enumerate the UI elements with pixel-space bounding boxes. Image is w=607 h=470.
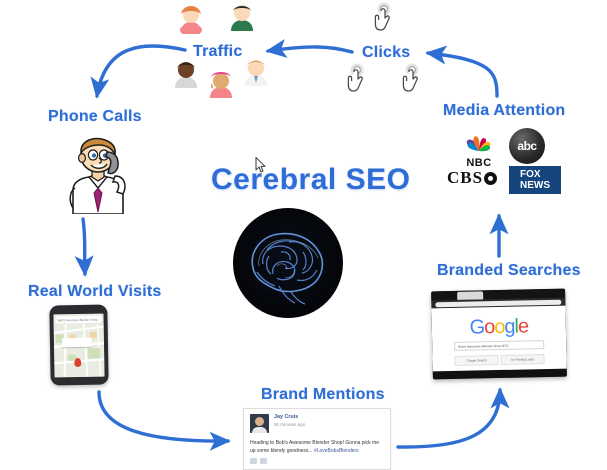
cbs-logo-icon: CBS	[447, 168, 505, 194]
diagram-canvas: Traffic	[0, 0, 607, 468]
nbc-logo-icon: NBC	[455, 128, 503, 164]
social-post-card[interactable]: Jay Cruis 50 minutes ago Heading to Bob'…	[243, 408, 391, 470]
arrow-phone-to-visits	[83, 219, 85, 274]
fox-news-logo-icon: FOX NEWS	[509, 166, 561, 196]
comment-icon[interactable]	[260, 458, 267, 464]
click-hand-3-icon	[399, 63, 425, 95]
smartphone-maps-illustration[interactable]: Bob's Awesome Blender Shop	[49, 304, 108, 385]
person-avatar-4-icon	[208, 69, 234, 99]
browser-tab[interactable]	[457, 291, 483, 300]
abc-logo-label: abc	[517, 139, 536, 153]
abc-logo-icon: abc	[509, 128, 551, 164]
cbs-eye-icon	[484, 172, 497, 185]
node-label-clicks: Clicks	[362, 44, 410, 62]
maps-search-bar[interactable]: Bob's Awesome Blender Shop	[55, 316, 101, 324]
google-letter-g2: g	[504, 316, 515, 338]
node-label-phone-calls: Phone Calls	[48, 108, 142, 126]
cbs-logo-label: CBS	[447, 168, 483, 187]
arrow-visits-to-mentions	[99, 392, 228, 441]
google-search-input[interactable]: Bob's Awesome Blender Shop NYC	[454, 340, 544, 351]
fox-logo-label-bottom: NEWS	[520, 180, 550, 191]
node-label-real-world-visits: Real World Visits	[28, 283, 162, 301]
click-hand-1-icon	[371, 2, 397, 34]
post-author-name[interactable]: Jay Cruis	[274, 414, 305, 421]
post-timestamp: 50 minutes ago	[274, 421, 305, 428]
post-meta: Jay Cruis 50 minutes ago	[274, 414, 305, 428]
arrow-media-to-clicks	[428, 53, 497, 96]
man-on-phone-illustration	[55, 136, 139, 214]
map-pin-icon	[74, 358, 81, 367]
brain-illustration	[233, 208, 343, 318]
node-label-brand-mentions: Brand Mentions	[261, 386, 385, 404]
post-header: Jay Cruis 50 minutes ago	[250, 414, 384, 433]
google-letter-g1: G	[469, 316, 484, 338]
google-letter-e: e	[518, 315, 529, 337]
arrow-traffic-to-phone	[97, 46, 185, 96]
person-avatar-1-icon	[178, 4, 204, 34]
arrow-mentions-to-branded	[398, 390, 500, 447]
avatar	[250, 414, 269, 433]
node-label-traffic: Traffic	[193, 43, 242, 61]
google-homepage: Google Bob's Awesome Blender Shop NYC Go…	[431, 306, 566, 372]
google-search-button[interactable]: Google Search	[454, 355, 498, 366]
phone-screen: Bob's Awesome Blender Shop	[53, 314, 104, 378]
google-letter-o2: o	[494, 316, 505, 338]
post-hashtag[interactable]: #LoveBobsBlenders	[314, 448, 359, 454]
like-icon[interactable]	[250, 458, 257, 464]
maps-search-query: Bob's Awesome Blender Shop	[58, 317, 98, 322]
media-logo-group: NBC abc CBS FOX NEWS	[447, 128, 569, 200]
feeling-lucky-button[interactable]: I'm Feeling Lucky	[500, 354, 544, 365]
fox-logo-label-top: FOX	[520, 169, 550, 180]
post-action-icons	[250, 458, 384, 464]
arrow-clicks-to-traffic	[268, 47, 352, 52]
click-hand-2-icon	[344, 63, 370, 95]
person-avatar-3-icon	[173, 59, 199, 89]
person-avatar-2-icon	[229, 2, 255, 32]
node-label-media-attention: Media Attention	[443, 102, 565, 120]
google-browser-window[interactable]: Google Bob's Awesome Blender Shop NYC Go…	[431, 289, 567, 380]
google-button-row: Google Search I'm Feeling Lucky	[454, 354, 544, 366]
maps-info-card[interactable]	[62, 338, 92, 348]
page-title: Cerebral SEO	[211, 163, 410, 197]
person-avatar-5-icon	[243, 57, 269, 87]
post-body: Heading to Bob's Awesome Blender Shop! G…	[250, 439, 384, 455]
node-label-branded-searches: Branded Searches	[437, 262, 581, 280]
mouse-cursor-icon	[255, 157, 267, 173]
google-logo: Google	[432, 315, 566, 341]
